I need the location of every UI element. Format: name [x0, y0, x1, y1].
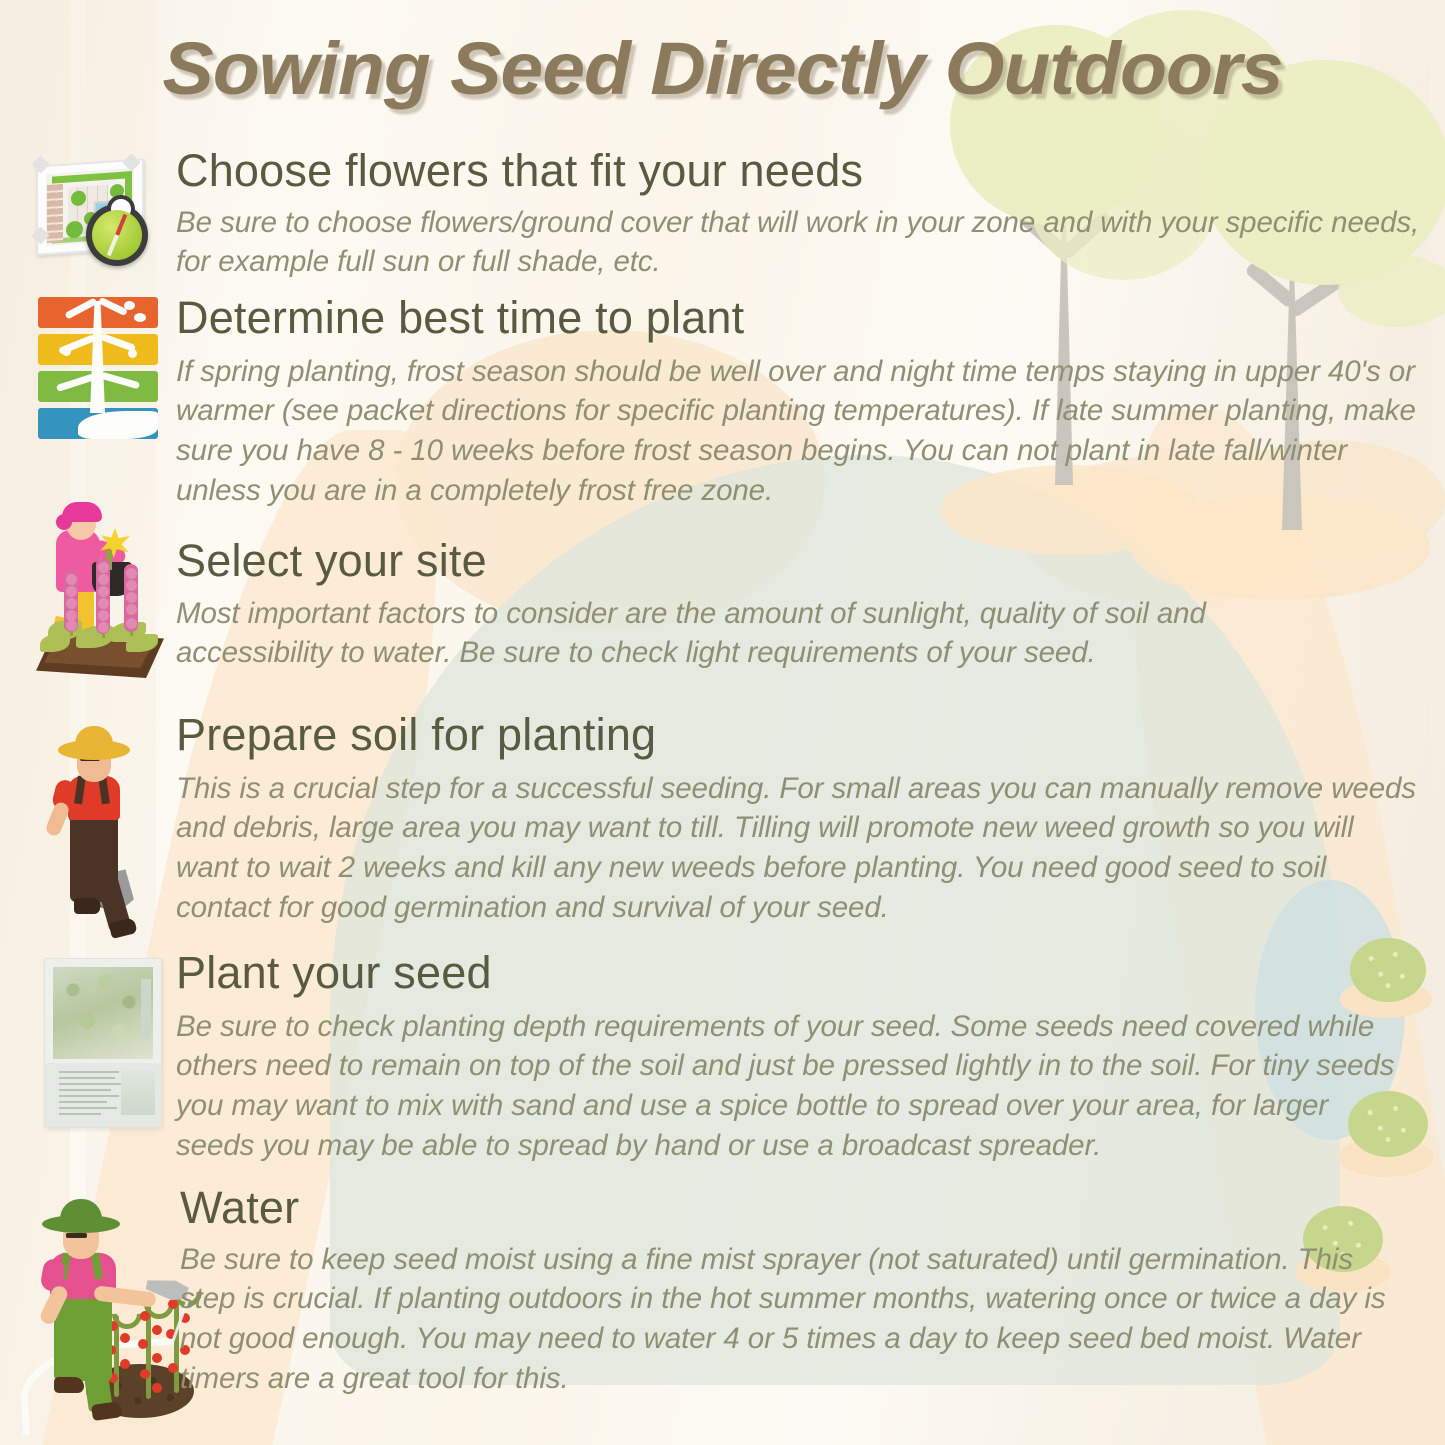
- step-body: This is a crucial step for a successful …: [176, 769, 1416, 928]
- step-heading: Water: [180, 1185, 1410, 1232]
- person-planting-flowers-icon: [30, 498, 170, 678]
- gardener-with-shovel-icon: [32, 720, 162, 920]
- page-title: Sowing Seed Directly Outdoors: [0, 26, 1445, 111]
- step-body: Be sure to keep seed moist using a fine …: [180, 1240, 1410, 1399]
- garden-plan-compass-icon: [30, 148, 148, 266]
- four-seasons-tree-icon: [38, 297, 158, 443]
- gardener-watering-icon: [28, 1193, 193, 1418]
- step-body: Most important factors to consider are t…: [176, 594, 1346, 673]
- step-body: Be sure to check planting depth requirem…: [176, 1007, 1406, 1166]
- step-heading: Choose flowers that fit your needs: [176, 148, 1424, 195]
- step-heading: Plant your seed: [176, 950, 1406, 997]
- step-body: If spring planting, frost season should …: [176, 352, 1420, 511]
- step-heading: Determine best time to plant: [176, 295, 1420, 342]
- infographic-poster: Sowing Seed Directly Outdoors: [0, 0, 1445, 1445]
- seed-packet-icon: [44, 958, 162, 1128]
- step-heading: Select your site: [176, 538, 1346, 585]
- step-heading: Prepare soil for planting: [176, 712, 1416, 759]
- compass-icon: [86, 204, 148, 266]
- step-body: Be sure to choose flowers/ground cover t…: [176, 203, 1424, 282]
